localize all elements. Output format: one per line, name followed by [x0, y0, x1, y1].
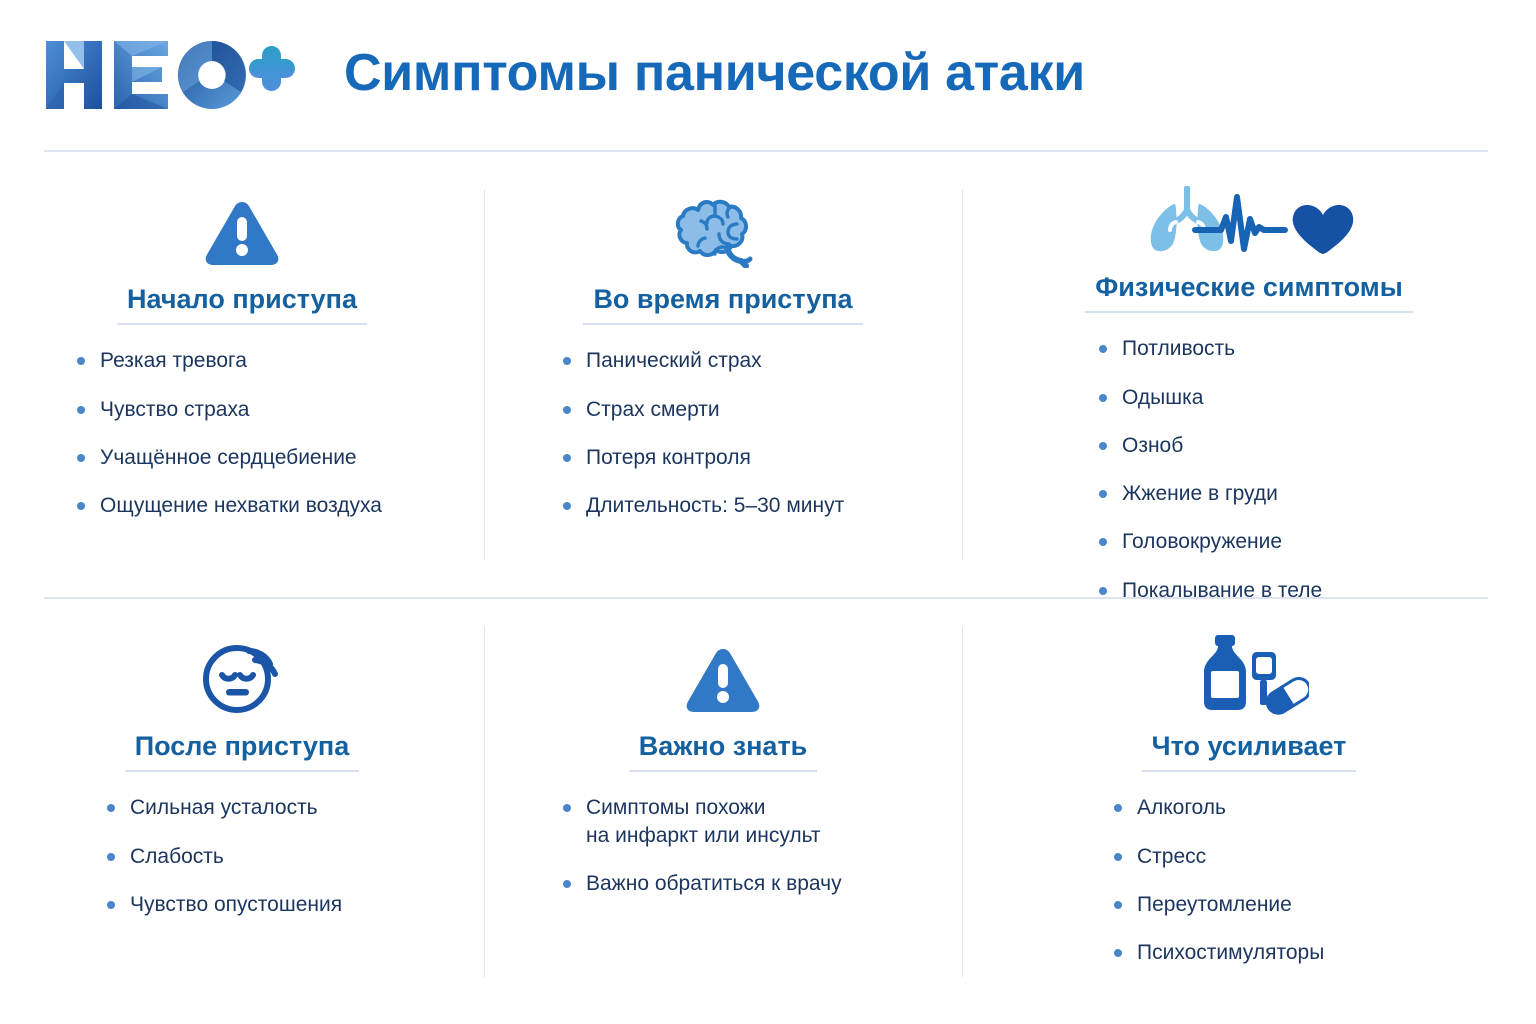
bullet-dot-icon	[1114, 949, 1122, 957]
card-title: После приступа	[125, 731, 360, 770]
bullet-dot-icon	[107, 901, 115, 909]
card-heading: Начало приступа	[117, 284, 367, 325]
bullet-dot-icon	[563, 880, 571, 888]
card-important: Важно знать Симптомы похожи на инфаркт и…	[484, 599, 962, 1024]
card-triggers: Что усиливает Алкоголь Стресс Переутомле…	[962, 599, 1536, 1024]
bullet-dot-icon	[107, 853, 115, 861]
symptom-list: Алкоголь Стресс Переутомление Психостиму…	[1114, 794, 1384, 987]
list-item: Психостимуляторы	[1114, 939, 1384, 966]
card-heading: После приступа	[125, 731, 360, 772]
list-item: Резкая тревога	[77, 347, 407, 374]
card-heading: Во время приступа	[583, 284, 862, 325]
list-item-label: Психостимуляторы	[1137, 939, 1324, 966]
bullet-dot-icon	[1099, 538, 1107, 546]
bullet-dot-icon	[77, 454, 85, 462]
card-after: После приступа Сильная усталость Слабост…	[0, 599, 484, 1024]
card-title: Во время приступа	[583, 284, 862, 323]
list-item: Одышка	[1099, 384, 1399, 411]
neo-plus-logo	[44, 33, 296, 117]
card-icon-slot	[684, 633, 762, 715]
list-item-label: Потеря контроля	[586, 444, 751, 471]
bullet-dot-icon	[563, 454, 571, 462]
list-item-label: Важно обратиться к врачу	[586, 870, 842, 897]
warning-triangle-icon	[684, 645, 762, 715]
card-icon-slot	[1189, 633, 1309, 715]
title-underline	[117, 323, 367, 325]
bullet-dot-icon	[1099, 442, 1107, 450]
card-heading: Важно знать	[629, 731, 818, 772]
bullet-dot-icon	[1099, 490, 1107, 498]
list-item-label: Страх смерти	[586, 396, 720, 423]
card-physical: Физические симптомы Потливость Одышка Оз…	[962, 152, 1536, 597]
card-heading: Что усиливает	[1142, 731, 1357, 772]
title-underline	[629, 770, 818, 772]
title-underline	[125, 770, 360, 772]
symptom-list: Резкая тревога Чувство страха Учащённое …	[77, 347, 407, 540]
bullet-dot-icon	[1114, 804, 1122, 812]
card-onset: Начало приступа Резкая тревога Чувство с…	[0, 152, 484, 597]
list-item-label: Алкоголь	[1137, 794, 1226, 821]
list-item-label: Стресс	[1137, 843, 1206, 870]
list-item: Потеря контроля	[563, 444, 883, 471]
list-item: Алкоголь	[1114, 794, 1384, 821]
cards-row-bottom: После приступа Сильная усталость Слабост…	[0, 599, 1536, 1024]
bullet-dot-icon	[1099, 394, 1107, 402]
list-item-label: Сильная усталость	[130, 794, 318, 821]
bullet-dot-icon	[1099, 345, 1107, 353]
list-item-label: Резкая тревога	[100, 347, 247, 374]
symptom-list: Потливость Одышка Озноб Жжение в груди	[1099, 335, 1399, 625]
bullet-dot-icon	[1114, 853, 1122, 861]
lungs-heartbeat-heart-icon	[1133, 186, 1365, 256]
bullet-dot-icon	[563, 357, 571, 365]
list-item: Жжение в груди	[1099, 480, 1399, 507]
list-item-label: Учащённое сердцебиение	[100, 444, 357, 471]
card-icon-slot	[200, 633, 284, 715]
card-during: Во время приступа Панический страх Страх…	[484, 152, 962, 597]
title-underline	[583, 323, 862, 325]
title-underline	[1085, 311, 1413, 313]
card-heading: Физические симптомы	[1085, 272, 1413, 313]
symptom-list: Панический страх Страх смерти Потеря кон…	[563, 347, 883, 540]
list-item: Потливость	[1099, 335, 1399, 362]
list-item: Переутомление	[1114, 891, 1384, 918]
list-item: Панический страх	[563, 347, 883, 374]
card-title: Важно знать	[629, 731, 818, 770]
bullet-dot-icon	[1114, 901, 1122, 909]
page-header: Симптомы панической атаки	[0, 0, 1536, 150]
brain-icon	[675, 190, 771, 268]
list-item-label: Панический страх	[586, 347, 762, 374]
list-item: Важно обратиться к врачу	[563, 870, 883, 897]
list-item-label: Чувство страха	[100, 396, 249, 423]
title-underline	[1142, 770, 1357, 772]
list-item: Озноб	[1099, 432, 1399, 459]
card-icon-slot	[203, 186, 281, 268]
bullet-dot-icon	[77, 406, 85, 414]
bullet-dot-icon	[77, 502, 85, 510]
card-title: Физические симптомы	[1085, 272, 1413, 311]
list-item-label: Переутомление	[1137, 891, 1292, 918]
list-item: Ощущение нехватки воздуха	[77, 492, 407, 519]
list-item: Учащённое сердцебиение	[77, 444, 407, 471]
tired-face-icon	[200, 637, 284, 715]
list-item-label: Ощущение нехватки воздуха	[100, 492, 382, 519]
symptom-list: Сильная усталость Слабость Чувство опуст…	[107, 794, 377, 939]
cards-grid: Начало приступа Резкая тревога Чувство с…	[0, 152, 1536, 1024]
list-item: Головокружение	[1099, 528, 1399, 555]
list-item: Стресс	[1114, 843, 1384, 870]
bullet-dot-icon	[563, 804, 571, 812]
list-item-label: Длительность: 5–30 минут	[586, 492, 844, 519]
list-item: Чувство страха	[77, 396, 407, 423]
list-item: Чувство опустошения	[107, 891, 377, 918]
bullet-dot-icon	[77, 357, 85, 365]
list-item: Сильная усталость	[107, 794, 377, 821]
list-item-label: Чувство опустошения	[130, 891, 342, 918]
list-item-label: Озноб	[1122, 432, 1183, 459]
card-icon-slot	[675, 186, 771, 268]
list-item-label: Головокружение	[1122, 528, 1282, 555]
card-title: Что усиливает	[1142, 731, 1357, 770]
list-item: Длительность: 5–30 минут	[563, 492, 883, 519]
symptom-list: Симптомы похожи на инфаркт или инсульт В…	[563, 794, 883, 918]
list-item: Страх смерти	[563, 396, 883, 423]
bullet-dot-icon	[1099, 587, 1107, 595]
card-title: Начало приступа	[117, 284, 367, 323]
list-item-label: Потливость	[1122, 335, 1235, 362]
cards-row-top: Начало приступа Резкая тревога Чувство с…	[0, 152, 1536, 597]
warning-triangle-icon	[203, 198, 281, 268]
bottle-pills-icon	[1189, 633, 1309, 715]
list-item-label: Слабость	[130, 843, 224, 870]
list-item: Симптомы похожи на инфаркт или инсульт	[563, 794, 883, 849]
list-item-label: Одышка	[1122, 384, 1203, 411]
infographic-page: Симптомы панической атаки Начало прис	[0, 0, 1536, 1024]
bullet-dot-icon	[563, 502, 571, 510]
list-item: Слабость	[107, 843, 377, 870]
bullet-dot-icon	[563, 406, 571, 414]
list-item-label: Симптомы похожи на инфаркт или инсульт	[586, 794, 821, 849]
bullet-dot-icon	[107, 804, 115, 812]
page-title: Симптомы панической атаки	[344, 47, 1085, 103]
list-item-label: Жжение в груди	[1122, 480, 1278, 507]
card-icon-slot	[1133, 186, 1365, 256]
